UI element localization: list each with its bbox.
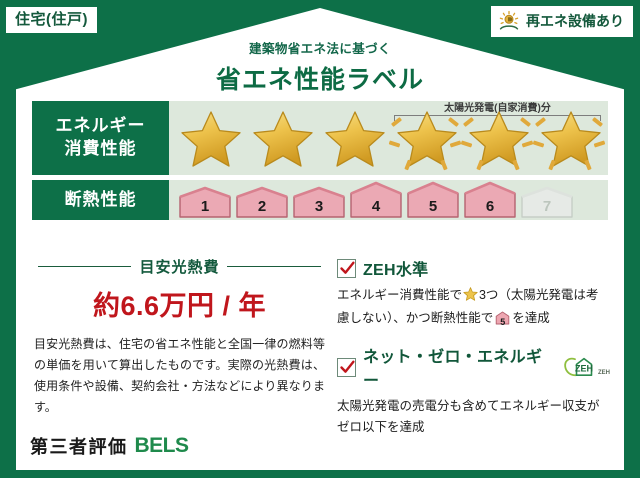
energy-label-line1: エネルギー	[56, 115, 146, 138]
insulation-level-number: 4	[349, 198, 403, 215]
bels-badge: 第三者評価 BELS	[22, 429, 199, 464]
check-icon	[339, 260, 356, 277]
zeh-block: ZEH水準 エネルギー消費性能で3つ（太陽光発電は考慮しない）、かつ断熱性能で5…	[337, 256, 610, 438]
net-zero-heading: ネット・ゼロ・エネルギー ZEH ZEH	[337, 343, 610, 391]
insulation-level-4: 4	[349, 181, 403, 219]
checkbox-checked-icon	[337, 259, 356, 278]
net-zero-title: ネット・ゼロ・エネルギー	[363, 343, 554, 391]
energy-star-rating	[169, 104, 607, 172]
heading-rule-right	[227, 266, 320, 268]
star-icon	[248, 104, 319, 172]
insulation-level-5: 5	[406, 181, 460, 219]
insulation-performance-value: 1234567	[169, 180, 608, 220]
insulation-level-7: 7	[520, 186, 574, 219]
star-icon	[320, 104, 391, 172]
zeh-standard-description: エネルギー消費性能で3つ（太陽光発電は考慮しない）、かつ断熱性能で5を達成	[337, 285, 610, 331]
star-icon	[392, 104, 463, 172]
insulation-performance-label: 断熱性能	[32, 180, 169, 220]
bels-jp-label: 第三者評価	[30, 433, 128, 459]
insulation-level-3: 3	[292, 186, 346, 219]
sun-icon	[497, 10, 521, 32]
building-name: NOAH	[205, 442, 243, 457]
insulation-level-number: 5	[406, 198, 460, 215]
heading-rule-left	[38, 266, 131, 268]
label-titles: 建築物省エネ法に基づく 省エネ性能ラベル	[0, 38, 640, 96]
house-type-tag: 住宅(住戸)	[6, 7, 97, 33]
insulation-performance-row: 断熱性能 1234567	[32, 180, 608, 220]
evaluation-uid: 1f0dd1de-f76f-40b7	[482, 455, 624, 466]
insulation-label-text: 断熱性能	[65, 189, 137, 212]
utility-cost-heading-text: 目安光熱費	[139, 256, 219, 277]
star-icon	[536, 104, 607, 172]
insulation-level-1: 1	[178, 186, 232, 219]
energy-performance-label: エネルギー 消費性能	[32, 101, 169, 175]
star-icon	[176, 104, 247, 172]
net-zero-energy-item: ネット・ゼロ・エネルギー ZEH ZEH 太陽光発電の売電分も含めてエネルギー収…	[337, 343, 610, 437]
star-icon	[464, 104, 535, 172]
utility-cost-block: 目安光熱費 約6.6万円 / 年 目安光熱費は、住宅の省エネ性能と全国一律の燃料…	[30, 256, 329, 438]
insulation-level-6: 6	[463, 181, 517, 219]
insulation-level-number: 6	[463, 198, 517, 215]
building-identifier: NOAH 202号室	[205, 439, 309, 458]
check-icon	[339, 359, 356, 376]
inline-badge-number: 5	[495, 315, 510, 330]
zeh-logo-subtext: ZEH	[598, 370, 610, 376]
insulation-level-number: 7	[520, 198, 574, 215]
evaluation-date-label: 評価日	[482, 434, 524, 450]
page-title: 省エネ性能ラベル	[0, 60, 640, 96]
zeh-desc-part3: を達成	[512, 311, 550, 325]
bels-en-label: BELS	[135, 434, 189, 458]
performance-section: エネルギー 消費性能 太陽光発電(自家消費)分 断熱性能 1234567	[32, 101, 608, 220]
utility-cost-heading: 目安光熱費	[30, 256, 329, 277]
insulation-level-2: 2	[235, 186, 289, 219]
evaluation-info: 評価日 2025年5月22日 1f0dd1de-f76f-40b7	[482, 432, 624, 466]
zeh-standard-item: ZEH水準 エネルギー消費性能で3つ（太陽光発電は考慮しない）、かつ断熱性能で5…	[337, 256, 610, 331]
insulation-level-scale: 1234567	[169, 181, 574, 219]
zeh-standard-title: ZEH水準	[363, 256, 429, 280]
insulation-level-inline-badge: 5	[495, 311, 510, 332]
evaluation-date-value: 2025年5月22日	[527, 434, 624, 450]
energy-performance-value: 太陽光発電(自家消費)分	[169, 101, 608, 175]
zeh-logo-icon: ZEH	[563, 356, 597, 378]
energy-performance-row: エネルギー 消費性能 太陽光発電(自家消費)分	[32, 101, 608, 175]
evaluation-date: 評価日 2025年5月22日	[482, 432, 624, 452]
renewable-badge-label: 再エネ設備あり	[526, 14, 624, 28]
insulation-level-number: 3	[292, 198, 346, 215]
zeh-desc-part1: エネルギー消費性能で	[337, 288, 462, 302]
utility-cost-note: 目安光熱費は、住宅の省エネ性能と全国一律の燃料等の単価を用いて算出したものです。…	[30, 334, 329, 418]
svg-text:ZEH: ZEH	[575, 364, 593, 374]
utility-cost-value: 約6.6万円 / 年	[30, 284, 329, 323]
checkbox-checked-icon	[337, 358, 356, 377]
insulation-level-number: 2	[235, 198, 289, 215]
insulation-level-number: 1	[178, 198, 232, 215]
title-subtitle: 建築物省エネ法に基づく	[0, 38, 640, 57]
zeh-house-logo: ZEH ZEH	[563, 356, 610, 378]
star-icon	[463, 287, 478, 308]
energy-label-line2: 消費性能	[65, 138, 137, 161]
room-number: 202号室	[261, 442, 309, 457]
renewable-energy-badge: 再エネ設備あり	[491, 6, 633, 37]
lower-section: 目安光熱費 約6.6万円 / 年 目安光熱費は、住宅の省エネ性能と全国一律の燃料…	[30, 256, 610, 438]
zeh-standard-heading: ZEH水準	[337, 256, 610, 280]
